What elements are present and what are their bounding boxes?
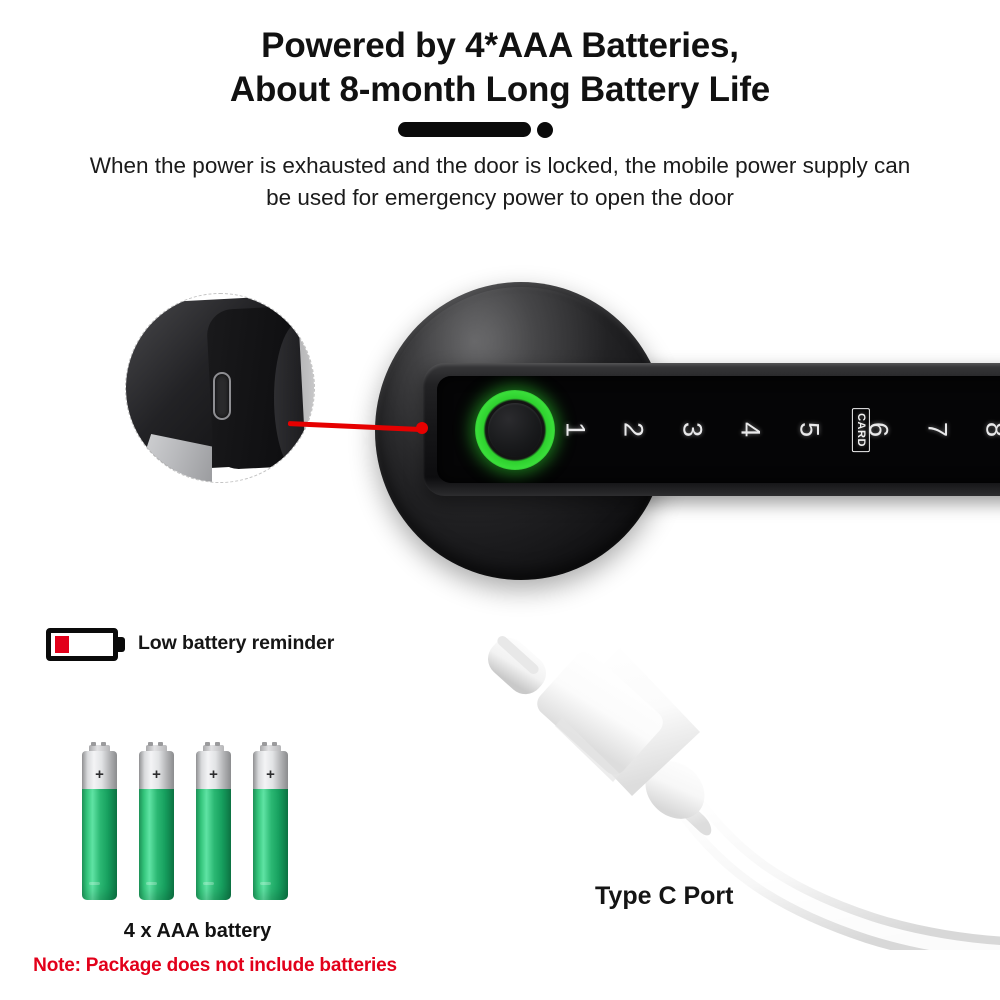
- aaa-battery-group: + + + +: [82, 745, 312, 900]
- page-title: Powered by 4*AAA Batteries, About 8-mont…: [0, 24, 1000, 112]
- battery-plus-icon: +: [95, 767, 104, 782]
- aaa-battery-1: +: [82, 745, 117, 900]
- battery-plus-icon: +: [209, 767, 218, 782]
- aaa-battery-2: +: [139, 745, 174, 900]
- fingerprint-sensor-icon[interactable]: [475, 390, 555, 470]
- keypad-key-3[interactable]: 3: [677, 421, 708, 437]
- product-scene: 1 2 3 4 5 CARD 6 7 8: [0, 260, 1000, 600]
- type-c-cable-graphic: [470, 610, 1000, 950]
- package-note: Note: Package does not include batteries: [0, 955, 430, 977]
- low-battery-level-fill: [55, 636, 69, 653]
- keypad-key-7[interactable]: 7: [922, 421, 953, 437]
- page-subtitle: When the power is exhausted and the door…: [80, 150, 920, 214]
- keypad-key-1[interactable]: 1: [560, 421, 591, 437]
- title-line-1: Powered by 4*AAA Batteries,: [261, 26, 739, 65]
- keypad-screen: 1 2 3 4 5 CARD 6 7 8: [437, 376, 1000, 483]
- pointer-tip-dot: [416, 422, 428, 434]
- keypad-key-8[interactable]: 8: [980, 421, 1000, 437]
- product-infographic: Powered by 4*AAA Batteries, About 8-mont…: [0, 0, 1000, 1000]
- battery-body: [196, 789, 231, 900]
- keypad-key-5[interactable]: 5: [794, 421, 825, 437]
- divider-bar: [398, 122, 531, 137]
- battery-top: +: [82, 751, 117, 791]
- battery-plus-icon: +: [152, 767, 161, 782]
- title-divider: [398, 120, 563, 140]
- keypad-key-6[interactable]: 6: [863, 421, 894, 437]
- low-battery-icon: [46, 628, 118, 661]
- keypad-key-2[interactable]: 2: [618, 421, 649, 437]
- aaa-battery-4: +: [253, 745, 288, 900]
- title-line-2: About 8-month Long Battery Life: [0, 68, 1000, 112]
- battery-body: [82, 789, 117, 900]
- low-battery-row: Low battery reminder: [46, 626, 386, 666]
- type-c-cable: Type C Port: [470, 610, 1000, 950]
- battery-body: [253, 789, 288, 900]
- keypad-housing: 1 2 3 4 5 CARD 6 7 8: [423, 363, 1000, 496]
- battery-top: +: [139, 751, 174, 791]
- usb-c-port-icon: [213, 372, 231, 420]
- low-battery-terminal: [118, 637, 125, 652]
- type-c-port-label: Type C Port: [595, 882, 733, 911]
- divider-dot: [537, 122, 553, 138]
- keypad-digits: 1 2 3 4 5 CARD 6 7 8: [567, 376, 1000, 483]
- battery-top: +: [253, 751, 288, 791]
- usb-c-port-magnifier: [125, 293, 315, 483]
- callout-pointer: [288, 418, 423, 430]
- aaa-battery-3: +: [196, 745, 231, 900]
- low-battery-label: Low battery reminder: [138, 632, 334, 655]
- battery-plus-icon: +: [266, 767, 275, 782]
- battery-top: +: [196, 751, 231, 791]
- battery-count-label: 4 x AAA battery: [0, 920, 395, 943]
- keypad-key-4[interactable]: 4: [735, 421, 766, 437]
- battery-body: [139, 789, 174, 900]
